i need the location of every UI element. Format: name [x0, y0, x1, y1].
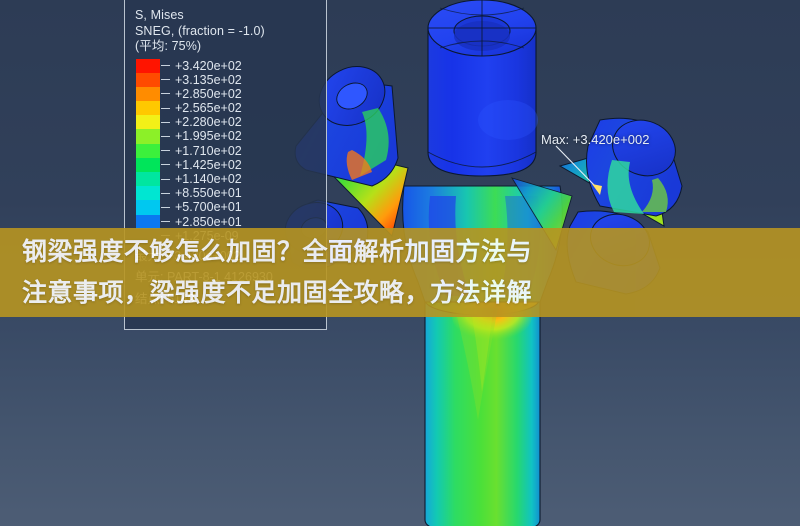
legend-color-swatch — [136, 186, 160, 200]
legend-value: +3.420e+02 — [175, 59, 242, 73]
legend-value: +2.850e+01 — [175, 215, 242, 229]
legend-color-swatch — [136, 129, 160, 143]
banner-line-2: 注意事项，梁强度不足加固全攻略，方法详解 — [0, 273, 800, 314]
legend-subtitle: SNEG, (fraction = -1.0) — [135, 24, 326, 40]
legend-tick — [161, 179, 170, 180]
legend-tick — [161, 221, 170, 222]
legend-value: +3.135e+02 — [175, 73, 242, 87]
legend-row: +8.550e+01 — [135, 186, 326, 200]
legend-row: +1.140e+02 — [135, 172, 326, 186]
legend-color-swatch — [136, 158, 160, 172]
legend-tick — [161, 79, 170, 80]
legend-row: +1.425e+02 — [135, 158, 326, 172]
legend-value: +1.140e+02 — [175, 172, 242, 186]
legend-value: +2.850e+02 — [175, 87, 242, 101]
legend-tick — [161, 122, 170, 123]
legend-row: +2.565e+02 — [135, 101, 326, 115]
legend-tick — [161, 136, 170, 137]
legend-value: +2.280e+02 — [175, 115, 242, 129]
legend-row: +2.850e+01 — [135, 215, 326, 229]
legend-scale: +3.420e+02+3.135e+02+2.850e+02+2.565e+02… — [135, 59, 326, 243]
legend-tick — [161, 93, 170, 94]
legend-color-swatch — [136, 87, 160, 101]
legend-row: +1.995e+02 — [135, 129, 326, 143]
legend-color-swatch — [136, 200, 160, 214]
legend-value: +5.700e+01 — [175, 200, 242, 214]
legend-row: +2.850e+02 — [135, 87, 326, 101]
legend-row: +3.420e+02 — [135, 59, 326, 73]
legend-tick — [161, 207, 170, 208]
legend-color-swatch — [136, 215, 160, 229]
legend-tick — [161, 193, 170, 194]
legend-row: +1.710e+02 — [135, 144, 326, 158]
legend-tick — [161, 108, 170, 109]
hub-cylinder — [428, 0, 538, 176]
legend-value: +2.565e+02 — [175, 101, 242, 115]
legend-average: (平均: 75%) — [135, 39, 326, 55]
legend-tick — [161, 150, 170, 151]
shaft-geometry — [425, 285, 540, 526]
right-boss — [587, 111, 684, 216]
legend-row: +2.280e+02 — [135, 115, 326, 129]
legend-value: +1.425e+02 — [175, 158, 242, 172]
title-banner-overlay: 钢梁强度不够怎么加固？全面解析加固方法与 注意事项，梁强度不足加固全攻略，方法详… — [0, 228, 800, 317]
legend-color-swatch — [136, 73, 160, 87]
legend-value: +1.995e+02 — [175, 129, 242, 143]
max-value-callout: Max: +3.420e+002 — [541, 132, 649, 147]
legend-value: +8.550e+01 — [175, 186, 242, 200]
legend-color-swatch — [136, 144, 160, 158]
legend-color-swatch — [136, 115, 160, 129]
legend-color-swatch — [136, 172, 160, 186]
legend-row: +3.135e+02 — [135, 73, 326, 87]
legend-title: S, Mises — [135, 8, 326, 24]
legend-value: +1.710e+02 — [175, 144, 242, 158]
banner-line-1: 钢梁强度不够怎么加固？全面解析加固方法与 — [0, 232, 800, 273]
legend-color-swatch — [136, 59, 160, 73]
legend-tick — [161, 65, 170, 66]
legend-color-swatch — [136, 101, 160, 115]
legend-tick — [161, 164, 170, 165]
legend-row: +5.700e+01 — [135, 200, 326, 214]
